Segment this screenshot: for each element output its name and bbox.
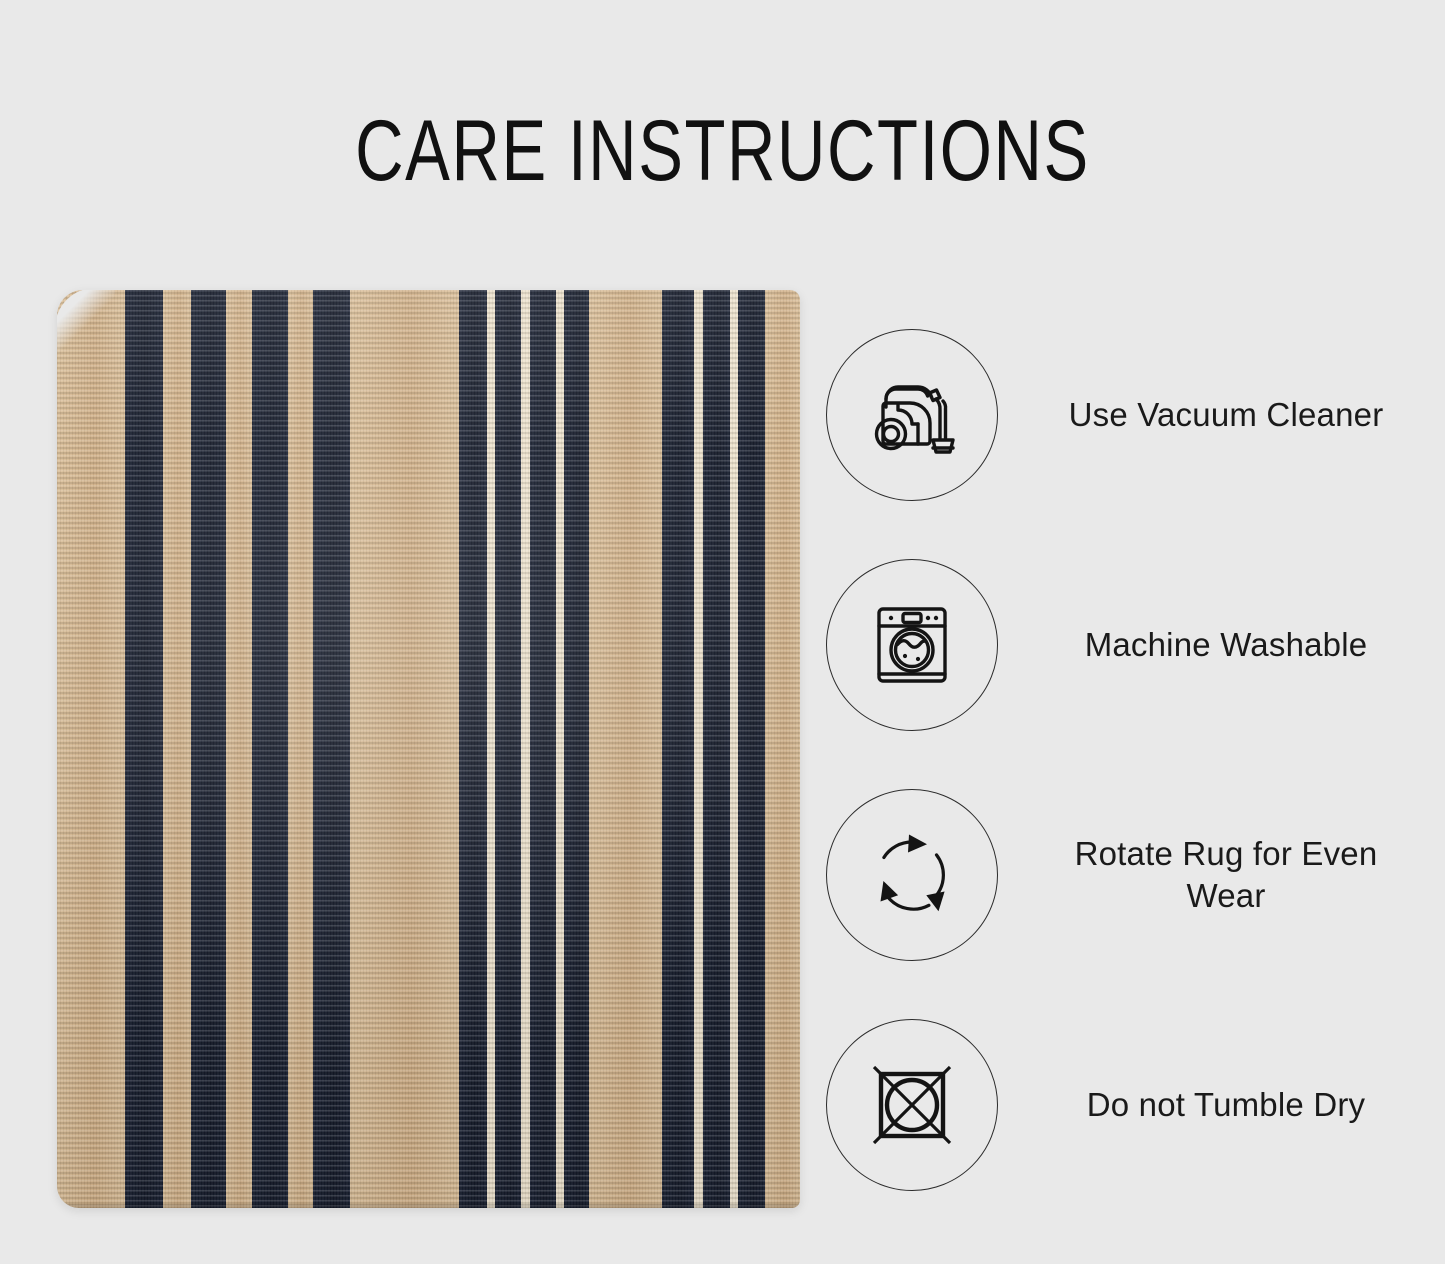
care-item-do-not-tumble-dry: Do not Tumble Dry xyxy=(826,990,1426,1220)
washing-machine-icon xyxy=(826,559,998,731)
care-item-label: Use Vacuum Cleaner xyxy=(1032,394,1426,436)
vacuum-cleaner-icon xyxy=(826,329,998,501)
care-label-text: Use Vacuum Cleaner xyxy=(1069,396,1384,433)
care-label-text-line1: Rotate Rug for Even xyxy=(1075,835,1378,872)
rug-stripe-navy xyxy=(662,290,696,1208)
rug-stripe-navy xyxy=(313,290,351,1208)
care-item-label: Machine Washable xyxy=(1032,624,1426,666)
care-instructions-list: Use Vacuum Cleaner xyxy=(826,300,1426,1220)
rug-stripe-navy xyxy=(459,290,488,1208)
rug-stripe-tan xyxy=(57,290,126,1208)
care-item-label: Rotate Rug for Even Wear xyxy=(1032,833,1426,917)
rug-stripe-tan xyxy=(163,290,193,1208)
care-item-label: Do not Tumble Dry xyxy=(1032,1084,1426,1126)
rug-stripe-navy xyxy=(125,290,163,1208)
rug-stripe-navy xyxy=(703,290,731,1208)
rug-stripe-tan xyxy=(226,290,254,1208)
rug-stripe-tan xyxy=(288,290,314,1208)
rug-stripe-navy xyxy=(530,290,558,1208)
rug-stripe-tan xyxy=(350,290,459,1208)
care-item-machine-washable: Machine Washable xyxy=(826,530,1426,760)
care-label-text-line2: Wear xyxy=(1186,877,1265,914)
rug-stripe-navy xyxy=(191,290,226,1208)
page-title: CARE INSTRUCTIONS xyxy=(159,108,1286,194)
rug-stripe-tan xyxy=(589,290,663,1208)
care-item-vacuum: Use Vacuum Cleaner xyxy=(826,300,1426,530)
rug-stripe-navy xyxy=(252,290,289,1208)
rug-stripe-tan xyxy=(765,290,800,1208)
rug-stripe-navy xyxy=(564,290,590,1208)
product-image-rug xyxy=(57,290,800,1208)
rotate-arrows-icon xyxy=(826,789,998,961)
care-label-text: Do not Tumble Dry xyxy=(1087,1086,1366,1123)
care-item-rotate: Rotate Rug for Even Wear xyxy=(826,760,1426,990)
care-label-text: Machine Washable xyxy=(1085,626,1368,663)
rug-stripe-navy xyxy=(495,290,522,1208)
rug-surface xyxy=(57,290,800,1208)
rug-stripe-navy xyxy=(738,290,766,1208)
do-not-tumble-dry-icon xyxy=(826,1019,998,1191)
